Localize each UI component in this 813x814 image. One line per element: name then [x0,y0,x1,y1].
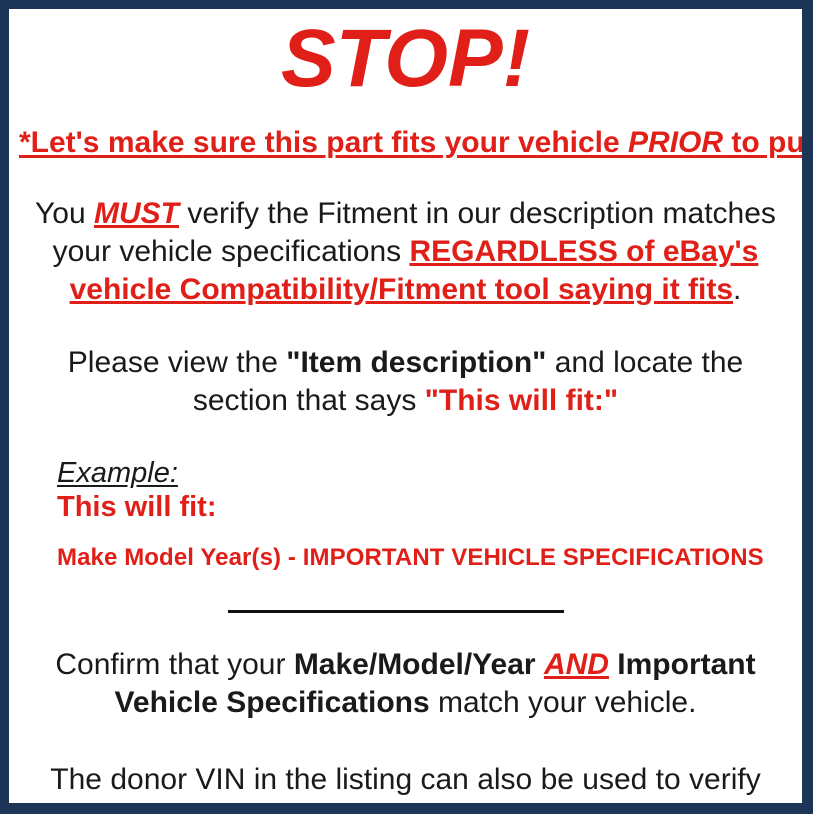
notice-inner-content: STOP! *Let's make sure this part fits yo… [9,9,802,803]
paragraph-confirm: Confirm that your Make/Model/Year AND Im… [19,618,792,723]
example-spec-line: Make Model Year(s) - IMPORTANT VEHICLE S… [57,524,792,572]
example-fit-line: This will fit: [57,489,792,524]
subheadline-emphasis-prior: PRIOR [628,126,723,159]
stop-headline: STOP! [19,9,792,104]
subheadline-suffix: to purchasing* [723,126,813,159]
confirm-text-part4: match your vehicle. [430,686,697,719]
confirm-text-part1: Confirm that your [55,648,293,681]
example-block: Example: This will fit: Make Model Year(… [19,421,792,572]
subheadline-prefix: *Let's make sure this part fits your veh… [19,126,628,159]
horizontal-divider [228,610,564,613]
itemdesc-text-part1: Please view the [68,346,286,379]
paragraph-must-verify: You MUST verify the Fitment in our descr… [19,159,792,310]
emphasis-must: MUST [94,197,179,230]
must-text-part1: You [35,197,94,230]
divider-wrap [19,572,792,618]
example-label: Example: [57,457,792,489]
emphasis-item-description: "Item description" [286,346,546,379]
paragraph-item-description: Please view the "Item description" and l… [19,310,792,421]
emphasis-this-will-fit: "This will fit:" [425,384,618,417]
paragraph-donor-vin: The donor VIN in the listing can also be… [19,723,792,814]
fitment-notice-card: STOP! *Let's make sure this part fits yo… [0,0,813,814]
confirm-space-1 [536,648,544,681]
emphasis-and: AND [544,648,609,681]
subheadline: *Let's make sure this part fits your veh… [19,104,792,159]
must-text-period: . [733,273,741,306]
emphasis-make-model-year: Make/Model/Year [294,648,536,681]
